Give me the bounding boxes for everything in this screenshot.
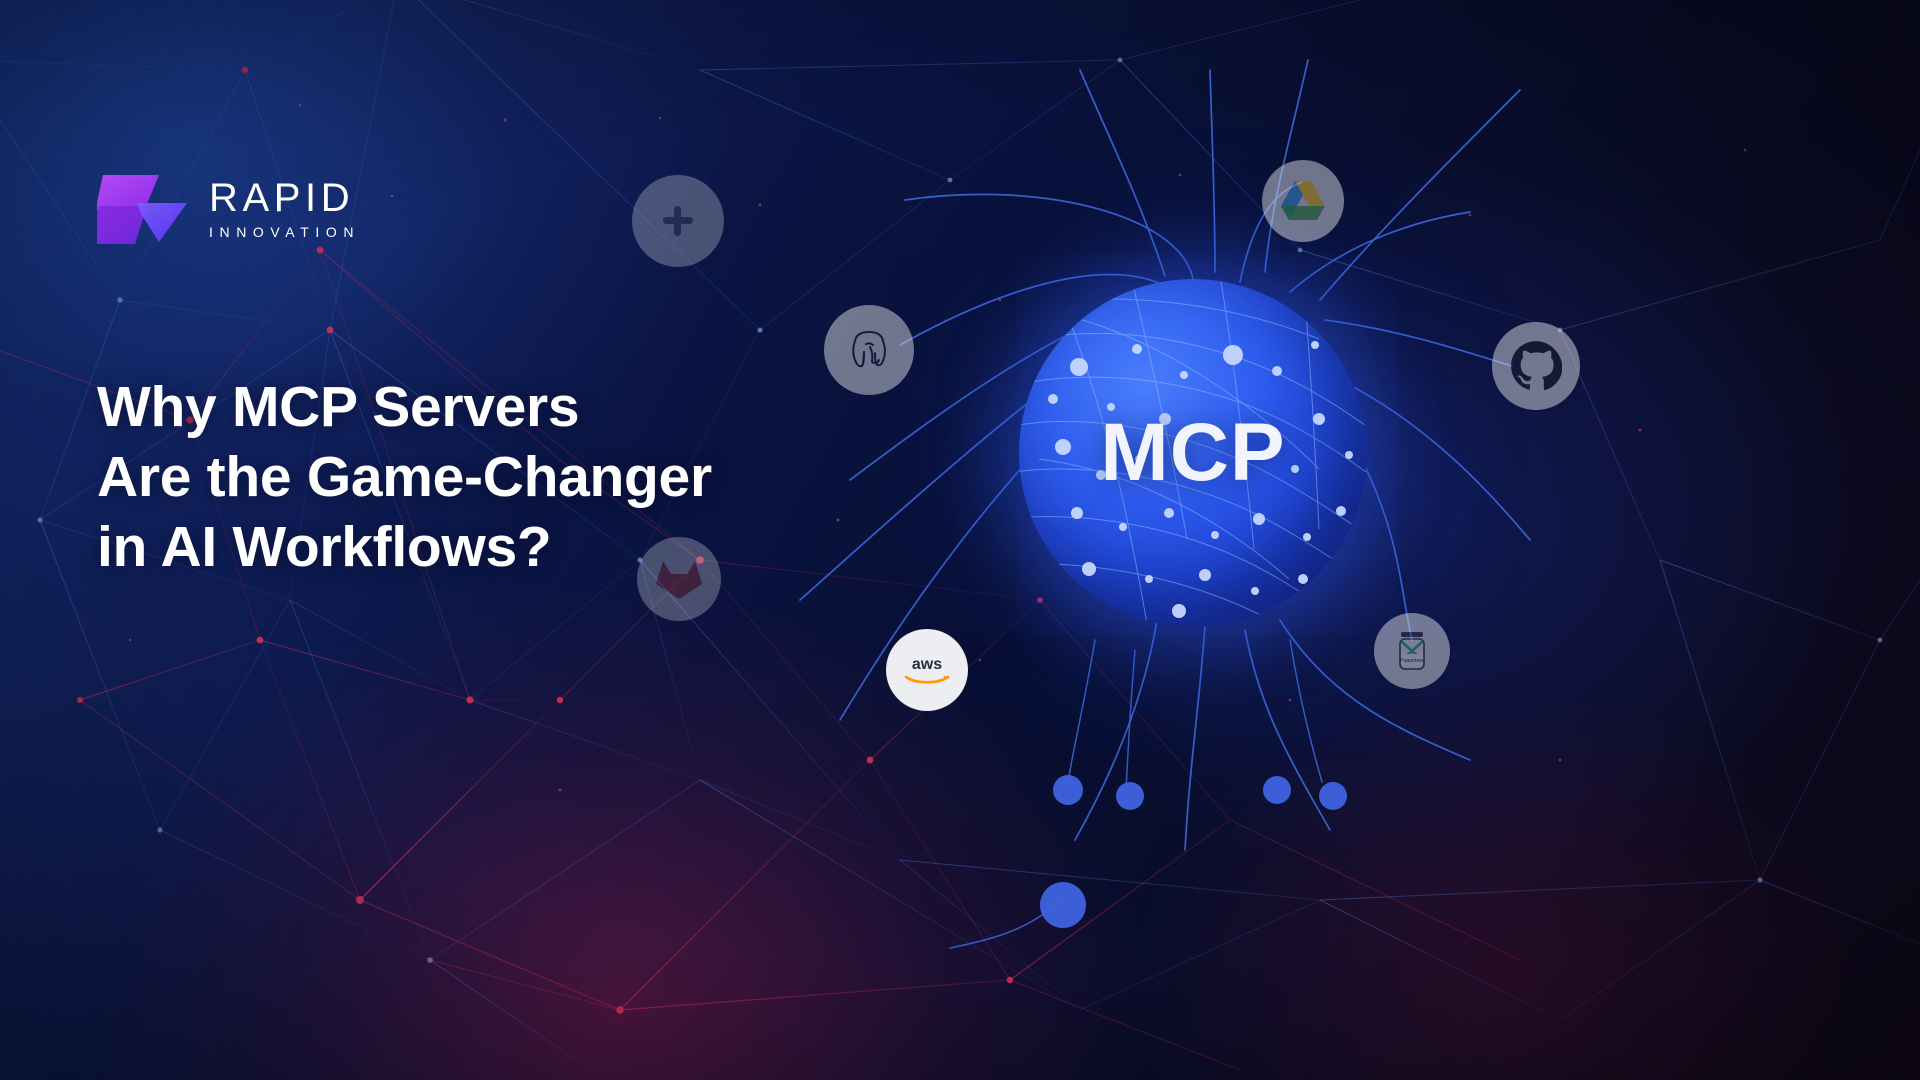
headline-line-3: in AI Workflows? xyxy=(97,512,917,582)
mcp-label: MCP xyxy=(1019,279,1367,627)
gitlab-icon[interactable] xyxy=(637,537,721,621)
brand-name-secondary: INNOVATION xyxy=(209,225,360,240)
page-title: Why MCP Servers Are the Game-Changer in … xyxy=(97,372,917,582)
hero-banner: RAPID INNOVATION Why MCP Servers Are the… xyxy=(0,0,1920,1080)
github-icon[interactable] xyxy=(1492,322,1580,410)
aws-icon[interactable]: aws xyxy=(886,629,968,711)
svg-text:Puppeteer: Puppeteer xyxy=(1400,658,1424,664)
brand-wordmark: RAPID INNOVATION xyxy=(209,178,360,240)
mcp-label-text: MCP xyxy=(1100,406,1285,500)
postgresql-icon[interactable] xyxy=(824,305,914,395)
puppeteer-icon[interactable]: Puppeteer xyxy=(1374,613,1450,689)
headline-line-2: Are the Game-Changer xyxy=(97,442,917,512)
brand-logo[interactable]: RAPID INNOVATION xyxy=(97,170,360,248)
brand-name-primary: RAPID xyxy=(209,178,360,219)
rapid-innovation-mark-icon xyxy=(97,170,187,248)
headline-line-1: Why MCP Servers xyxy=(97,372,917,442)
google-drive-icon[interactable] xyxy=(1262,160,1344,242)
svg-text:aws: aws xyxy=(912,656,942,673)
slack-icon[interactable] xyxy=(632,175,724,267)
